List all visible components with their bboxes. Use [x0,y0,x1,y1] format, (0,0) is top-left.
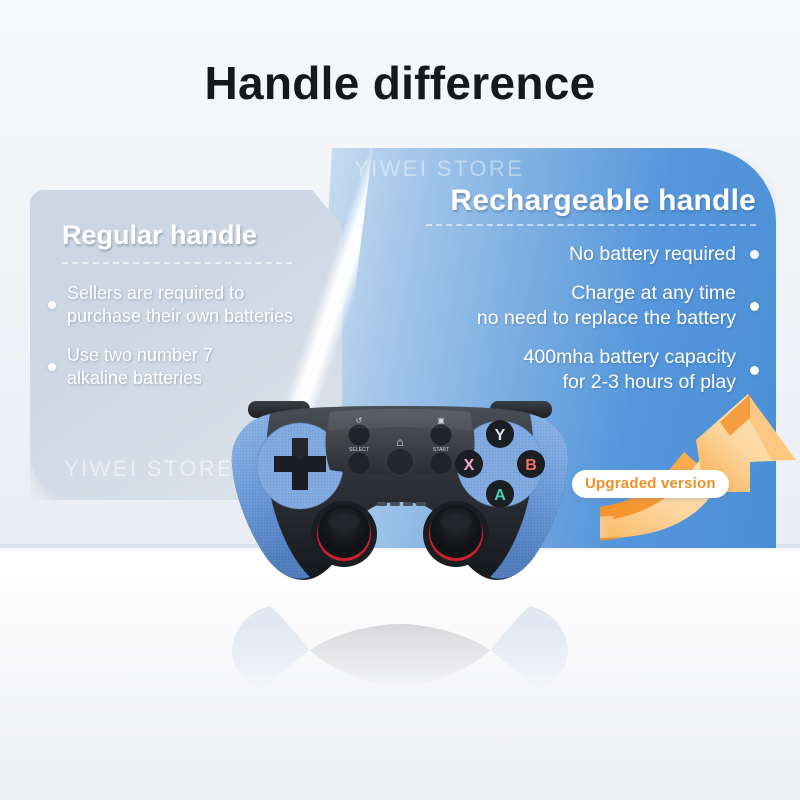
face-button-y: Y [495,427,506,444]
bullet-line: purchase their own batteries [67,305,293,328]
rechargeable-heading: Rechargeable handle [310,184,756,218]
bullet-dot-icon [750,366,759,375]
bullet-dot-icon [48,363,56,371]
rechargeable-bullet-1: No battery required [569,242,736,267]
face-button-b: B [525,457,537,474]
bullet-dot-icon [750,302,759,311]
face-button-x: X [464,457,475,474]
home-icon: ⌂ [396,435,403,449]
led-indicators [377,502,426,506]
upgraded-version-badge[interactable]: Upgraded version [572,470,729,498]
bullet-line: No battery required [569,242,736,267]
regular-bullet-list: Sellers are required to purchase their o… [44,282,344,406]
watermark-blue: YIWEI STORE [354,156,524,182]
list-item: Sellers are required to purchase their o… [44,282,344,328]
bullet-line: alkaline batteries [67,367,213,390]
bullet-dot-icon [48,301,56,309]
list-item: No battery required [310,242,776,267]
infographic-canvas: Handle difference YIWEI STORE Rechargeab… [0,0,800,800]
bullet-line: Use two number 7 [67,344,213,367]
watermark-gray: YIWEI STORE [64,456,234,482]
bullet-line: Charge at any time [477,281,736,306]
rechargeable-bullet-2: Charge at any time no need to replace th… [477,281,736,331]
bullet-line: 400mha battery capacity [524,345,736,370]
start-label: START [433,447,450,453]
face-button-a: A [494,487,506,504]
regular-heading: Regular handle [62,220,257,251]
bullet-line: Sellers are required to [67,282,293,305]
rechargeable-divider [426,224,756,226]
gamepad-illustration: Y X B A ↺ ▣ SELECT START ⌂ [226,398,574,618]
regular-bullet-1: Sellers are required to purchase their o… [67,282,293,328]
rechargeable-bullet-list: No battery required Charge at any time n… [310,242,776,409]
list-item: Charge at any time no need to replace th… [310,281,776,331]
bullet-line: no need to replace the battery [477,306,736,331]
regular-bullet-2: Use two number 7 alkaline batteries [67,344,213,390]
bullet-dot-icon [750,250,759,259]
select-label: SELECT [349,447,370,453]
list-item: Use two number 7 alkaline batteries [44,344,344,390]
page-title: Handle difference [0,56,800,110]
right-analog-stick [423,501,489,567]
regular-divider [62,262,292,264]
left-analog-stick [311,501,377,567]
